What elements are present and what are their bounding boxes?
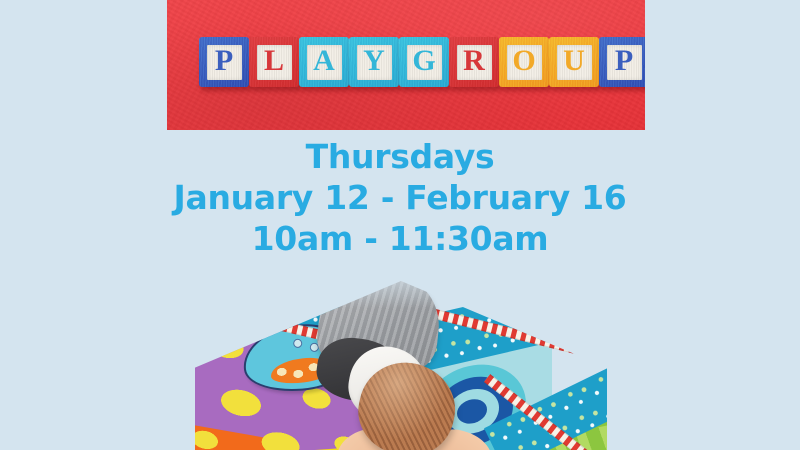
alphabet-block: G (399, 37, 449, 87)
schedule-time-range: 10am - 11:30am (0, 218, 800, 259)
alphabet-block: P (199, 37, 249, 87)
block-face: P (207, 45, 242, 80)
schedule-text-block: Thursdays January 12 - February 16 10am … (0, 136, 800, 259)
block-letter: O (512, 46, 535, 76)
block-letter: L (264, 46, 284, 76)
block-letter: U (563, 46, 585, 76)
block-face: G (407, 45, 442, 80)
schedule-date-range: January 12 - February 16 (0, 177, 800, 218)
block-letter: P (215, 46, 233, 76)
block-face: R (457, 45, 492, 80)
block-face: O (507, 45, 542, 80)
block-face: L (257, 45, 292, 80)
alphabet-blocks-row: P L A Y G (199, 37, 645, 87)
baby-head (350, 354, 463, 450)
schedule-day: Thursdays (0, 136, 800, 177)
block-face: Y (357, 45, 392, 80)
playgroup-banner-image: P L A Y G (167, 0, 645, 130)
block-letter: A (313, 46, 335, 76)
alphabet-block: P (599, 37, 645, 87)
block-letter: G (412, 46, 435, 76)
baby-playmat-image (195, 281, 607, 450)
alphabet-block: O (499, 37, 549, 87)
alphabet-block: A (299, 37, 349, 87)
playgroup-flyer: P L A Y G (0, 0, 800, 450)
block-face: P (607, 45, 642, 80)
block-face: U (557, 45, 592, 80)
block-face: A (307, 45, 342, 80)
alphabet-block: Y (349, 37, 399, 87)
alphabet-block: U (549, 37, 599, 87)
block-letter: Y (363, 46, 385, 76)
alphabet-block: L (249, 37, 299, 87)
block-letter: P (615, 46, 633, 76)
alphabet-block: R (449, 37, 499, 87)
block-letter: R (463, 46, 485, 76)
